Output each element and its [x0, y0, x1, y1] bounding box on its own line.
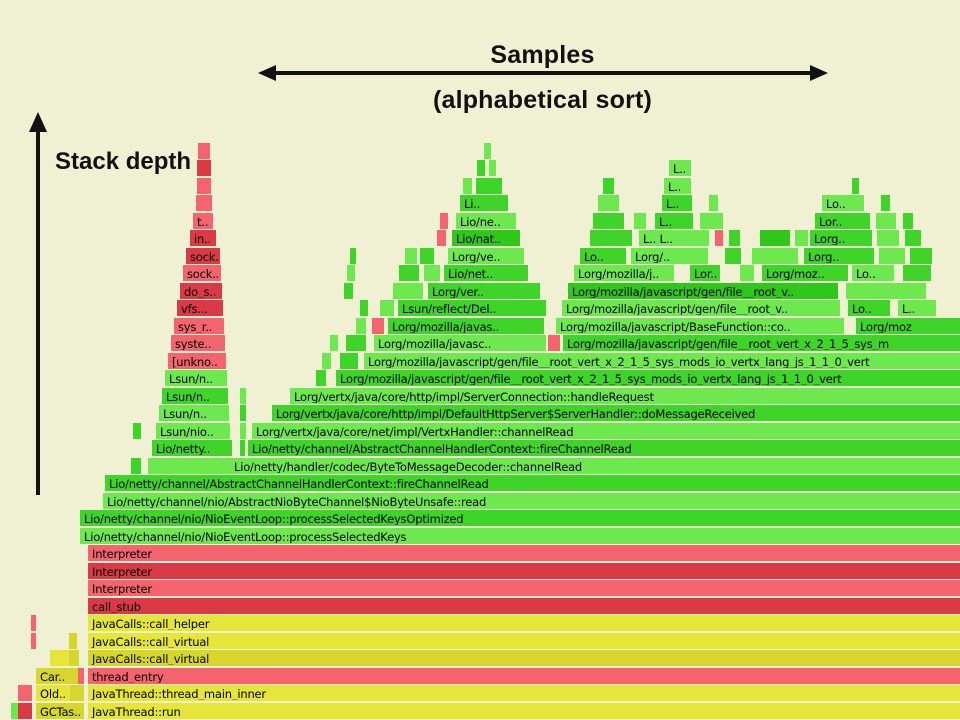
- flame-frame[interactable]: Lorg..: [804, 248, 874, 264]
- flame-frame-unlabeled[interactable]: [489, 160, 496, 176]
- flame-frame-unlabeled[interactable]: [131, 458, 141, 474]
- flame-frame-unlabeled[interactable]: [881, 195, 890, 211]
- flame-frame-unlabeled[interactable]: [634, 213, 646, 229]
- flame-frame[interactable]: syste..: [171, 335, 225, 351]
- flame-frame-unlabeled[interactable]: [795, 230, 808, 246]
- flame-frame[interactable]: Interpreter: [88, 563, 960, 579]
- flame-frame-unlabeled[interactable]: [69, 650, 79, 666]
- flame-frame[interactable]: Lio/nat..: [452, 230, 520, 246]
- flame-frame-unlabeled[interactable]: [729, 230, 740, 246]
- flame-frame-unlabeled[interactable]: [197, 178, 211, 194]
- flame-frame-unlabeled[interactable]: [598, 195, 619, 211]
- flame-frame[interactable]: Lorg/vertx/java/core/http/impl/ServerCon…: [290, 388, 960, 404]
- flame-frame-unlabeled[interactable]: [322, 353, 331, 369]
- flame-frame[interactable]: Lorg/mozilla/javas..: [388, 318, 544, 334]
- flame-frame-unlabeled[interactable]: [316, 370, 326, 386]
- flame-frame-unlabeled[interactable]: [148, 458, 234, 474]
- flame-frame-unlabeled[interactable]: [18, 703, 32, 719]
- flame-frame[interactable]: call_stub: [88, 598, 960, 614]
- flame-frame-unlabeled[interactable]: [476, 178, 502, 194]
- flame-frame[interactable]: Lorg/ver..: [428, 283, 540, 299]
- flame-frame-unlabeled[interactable]: [346, 335, 366, 351]
- flame-frame[interactable]: thread_entry: [88, 668, 960, 684]
- flame-frame[interactable]: L..: [662, 195, 692, 211]
- flame-frame-unlabeled[interactable]: [463, 178, 472, 194]
- flame-frame[interactable]: Lo..: [848, 300, 890, 316]
- flame-frame-unlabeled[interactable]: [879, 248, 905, 264]
- flame-frame[interactable]: Lio/ne..: [456, 213, 516, 229]
- flame-frame-unlabeled[interactable]: [477, 160, 485, 176]
- flame-frame[interactable]: Lio/netty/channel/nio/NioEventLoop::proc…: [80, 510, 960, 526]
- flame-frame-unlabeled[interactable]: [484, 143, 491, 159]
- flame-frame[interactable]: Lio/netty/channel/AbstractChannelHandler…: [248, 440, 960, 456]
- flame-frame[interactable]: Lorg/ve..: [448, 248, 524, 264]
- flame-frame-unlabeled[interactable]: [133, 423, 141, 439]
- flame-frame-unlabeled[interactable]: [350, 248, 356, 264]
- flame-frame[interactable]: L..: [664, 178, 691, 194]
- flame-frame-unlabeled[interactable]: [903, 265, 931, 281]
- flame-frame[interactable]: Lorg/mozilla/javascript/gen/file__root_v…: [563, 335, 960, 351]
- flame-frame-unlabeled[interactable]: [752, 248, 798, 264]
- flame-frame-unlabeled[interactable]: [240, 405, 246, 421]
- flame-frame[interactable]: JavaCalls::call_helper: [88, 615, 960, 631]
- flame-frame-unlabeled[interactable]: [78, 668, 84, 684]
- flame-frame-unlabeled[interactable]: [725, 248, 741, 264]
- alphabetical-sort-label: (alphabetical sort): [0, 86, 960, 115]
- flame-frame[interactable]: [unkno..: [168, 353, 226, 369]
- flame-frame[interactable]: t..: [193, 213, 213, 229]
- flame-frame-unlabeled[interactable]: [420, 248, 434, 264]
- flame-frame[interactable]: L..: [655, 213, 693, 229]
- flame-frame-unlabeled[interactable]: [760, 230, 790, 246]
- flame-frame-unlabeled[interactable]: [240, 440, 245, 456]
- flame-frame-unlabeled[interactable]: [437, 230, 446, 246]
- flame-frame[interactable]: do_s..: [180, 283, 222, 299]
- flame-frame-unlabeled[interactable]: [740, 265, 754, 281]
- flame-frame-unlabeled[interactable]: [593, 213, 624, 229]
- flame-frame[interactable]: Lorg/moz..: [762, 265, 848, 281]
- flame-frame-unlabeled[interactable]: [70, 685, 84, 701]
- flame-frame[interactable]: vfs...: [177, 300, 223, 316]
- flame-frame[interactable]: Lsun/n..: [165, 370, 227, 386]
- flame-frame[interactable]: Lorg/mozilla/javascript/BaseFunction::co…: [556, 318, 844, 334]
- flame-frame[interactable]: Lor..: [815, 213, 870, 229]
- flame-frame-unlabeled[interactable]: [340, 353, 358, 369]
- flame-frame-unlabeled[interactable]: [196, 195, 212, 211]
- flame-frame[interactable]: Car..: [36, 668, 84, 684]
- flame-frame[interactable]: Lorg/mozilla/javascript/gen/file__root_v…: [336, 370, 960, 386]
- flame-frame-unlabeled[interactable]: [877, 230, 899, 246]
- flame-frame[interactable]: GCTas..: [36, 703, 84, 719]
- flame-frame[interactable]: L..: [669, 160, 691, 176]
- flame-frame[interactable]: Lorg..: [810, 230, 872, 246]
- flame-frame[interactable]: JavaCalls::call_virtual: [88, 650, 960, 666]
- flame-frame-unlabeled[interactable]: [709, 195, 718, 211]
- flame-frame-unlabeled[interactable]: [197, 160, 211, 176]
- flame-frame[interactable]: Lorg/mozilla/javascript/gen/file__root_v…: [364, 353, 960, 369]
- flame-frame[interactable]: Lorg/vertx/java/core/net/impl/VertxHandl…: [252, 423, 960, 439]
- flame-frame[interactable]: sock..: [186, 248, 220, 264]
- flame-frame-unlabeled[interactable]: [876, 213, 896, 229]
- flame-frame[interactable]: Lsun/n..: [159, 405, 229, 421]
- flame-frame[interactable]: Lio/netty/channel/nio/AbstractNioByteCha…: [103, 493, 960, 509]
- flame-frame-unlabeled[interactable]: [910, 248, 932, 264]
- flame-frame[interactable]: JavaThread::run: [88, 703, 960, 719]
- flame-frame[interactable]: sock..: [183, 265, 221, 281]
- flame-frame-unlabeled[interactable]: [372, 318, 384, 334]
- flame-frame-unlabeled[interactable]: [347, 265, 355, 281]
- flame-frame[interactable]: Lio/netty/channel/nio/NioEventLoop::proc…: [80, 528, 960, 544]
- flame-frame[interactable]: Lio/netty/channel/AbstractChannelHandler…: [105, 475, 960, 491]
- flame-frame-unlabeled[interactable]: [240, 423, 246, 439]
- stack-depth-axis-label: Stack depth: [55, 148, 191, 176]
- flame-frame-unlabeled[interactable]: [380, 300, 394, 316]
- flame-frame-unlabeled[interactable]: [590, 230, 632, 246]
- flame-frame-unlabeled[interactable]: [903, 213, 913, 229]
- flame-frame[interactable]: Lorg/mozilla/j..: [574, 265, 674, 281]
- flame-frame-unlabeled[interactable]: [240, 388, 246, 404]
- flame-frame-unlabeled[interactable]: [31, 633, 36, 649]
- flame-frame-unlabeled[interactable]: [356, 318, 366, 334]
- flame-frame-unlabeled[interactable]: [198, 143, 210, 159]
- flame-frame[interactable]: Interpreter: [88, 580, 960, 596]
- flame-frame[interactable]: Lo..: [580, 248, 626, 264]
- flame-frame[interactable]: L..: [898, 300, 936, 316]
- flame-frame-unlabeled[interactable]: [548, 335, 560, 351]
- samples-axis-label: Samples: [0, 41, 960, 70]
- flame-frame-unlabeled[interactable]: [360, 300, 368, 316]
- flame-frame[interactable]: Lorg/mozilla/javascript/gen/file__root_v…: [562, 300, 840, 316]
- flame-frame[interactable]: Lsun/n..: [162, 388, 228, 404]
- flame-frame[interactable]: in..: [190, 230, 216, 246]
- flame-frame[interactable]: Lio/netty/handler/codec/ByteToMessageDec…: [230, 458, 960, 474]
- flame-frame-unlabeled[interactable]: [424, 265, 440, 281]
- flame-frame[interactable]: Lorg/mozilla/javascript/gen/file__root_v…: [568, 283, 838, 299]
- flame-frame-unlabeled[interactable]: [31, 615, 36, 631]
- flame-frame-unlabeled[interactable]: [11, 703, 18, 719]
- flame-frame[interactable]: Lorg/..: [631, 248, 708, 264]
- flame-frame[interactable]: Li..: [460, 195, 508, 211]
- flame-frame[interactable]: Lorg/mozilla/javasc..: [374, 335, 546, 351]
- flame-frame-unlabeled[interactable]: [399, 265, 419, 281]
- flame-frame-unlabeled[interactable]: [405, 248, 417, 264]
- flame-frame[interactable]: JavaThread::thread_main_inner: [88, 685, 960, 701]
- upward-arrow-icon: [26, 112, 50, 497]
- flamegraph-canvas: L..L..Li..L..Lo..t..Lio/ne..L..Lor..in..…: [0, 0, 960, 720]
- flame-frame[interactable]: Lio/netty..: [152, 440, 232, 456]
- flame-frame[interactable]: L.. L..: [639, 230, 709, 246]
- flame-frame[interactable]: Lorg/vertx/java/core/http/impl/DefaultHt…: [272, 405, 960, 421]
- flame-frame-unlabeled[interactable]: [344, 283, 353, 299]
- flame-frame[interactable]: Lorg/moz: [856, 318, 960, 334]
- flame-frame-unlabeled[interactable]: [846, 283, 926, 299]
- flame-frame[interactable]: Lsun/nio..: [156, 423, 230, 439]
- flame-frame[interactable]: Interpreter: [88, 545, 960, 561]
- flame-frame-unlabeled[interactable]: [905, 230, 921, 246]
- flame-frame-unlabeled[interactable]: [603, 178, 614, 194]
- flame-frame-unlabeled[interactable]: [18, 685, 32, 701]
- flame-frame-unlabeled[interactable]: [69, 633, 77, 649]
- flame-frame-unlabeled[interactable]: [852, 178, 859, 194]
- flame-frame-unlabeled[interactable]: [715, 230, 723, 246]
- flame-frame[interactable]: Lsun/reflect/Del..: [398, 300, 546, 316]
- flame-frame[interactable]: sys_r..: [174, 318, 224, 334]
- flame-frame[interactable]: Lor..: [690, 265, 720, 281]
- flame-frame[interactable]: JavaCalls::call_virtual: [88, 633, 960, 649]
- flame-frame-unlabeled[interactable]: [440, 213, 448, 229]
- flame-frame-unlabeled[interactable]: [393, 283, 423, 299]
- flame-frame-unlabeled[interactable]: [700, 213, 723, 229]
- flame-frame[interactable]: Lio/net..: [444, 265, 528, 281]
- flame-frame-unlabeled[interactable]: [330, 335, 338, 351]
- flame-frame[interactable]: Lo..: [852, 265, 894, 281]
- flame-frame[interactable]: Lo..: [822, 195, 864, 211]
